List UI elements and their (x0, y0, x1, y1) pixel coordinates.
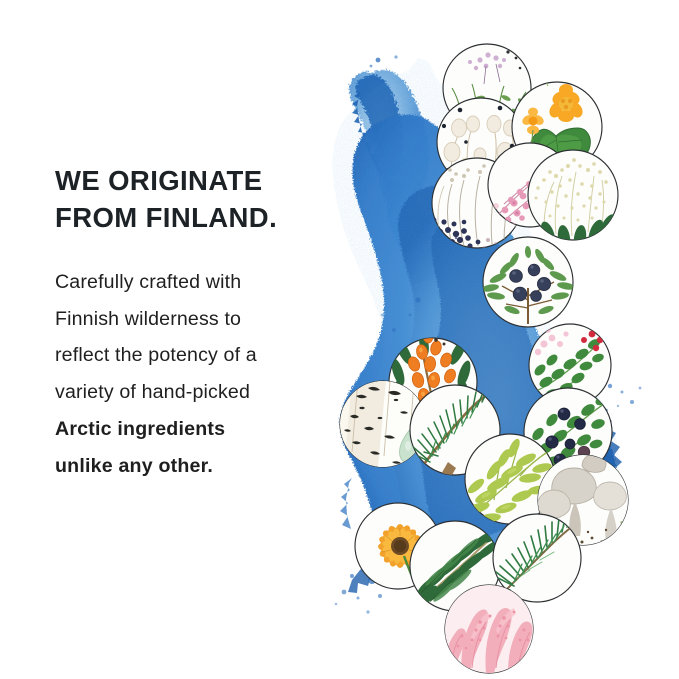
body-paragraph: Carefully crafted with Finnish wildernes… (55, 264, 355, 485)
body-line-4: variety of hand-picked (55, 374, 355, 411)
ingredient-circle-pink-algae (444, 585, 533, 673)
page-title: WE ORIGINATE FROM FINLAND. (55, 163, 355, 237)
copy-block: WE ORIGINATE FROM FINLAND. Carefully cra… (55, 163, 355, 485)
headline-line-1: WE ORIGINATE (55, 163, 355, 200)
body-line-2: Finnish wilderness to (55, 301, 355, 338)
headline-line-2: FROM FINLAND. (55, 200, 355, 237)
body-line-1: Carefully crafted with (55, 264, 355, 301)
body-line-5-emphasis: Arctic ingredients (55, 411, 355, 448)
body-line-6-emphasis: unlike any other. (55, 448, 355, 485)
body-line-3: reflect the potency of a (55, 337, 355, 374)
promo-graphic-page: WE ORIGINATE FROM FINLAND. Carefully cra… (0, 0, 679, 679)
